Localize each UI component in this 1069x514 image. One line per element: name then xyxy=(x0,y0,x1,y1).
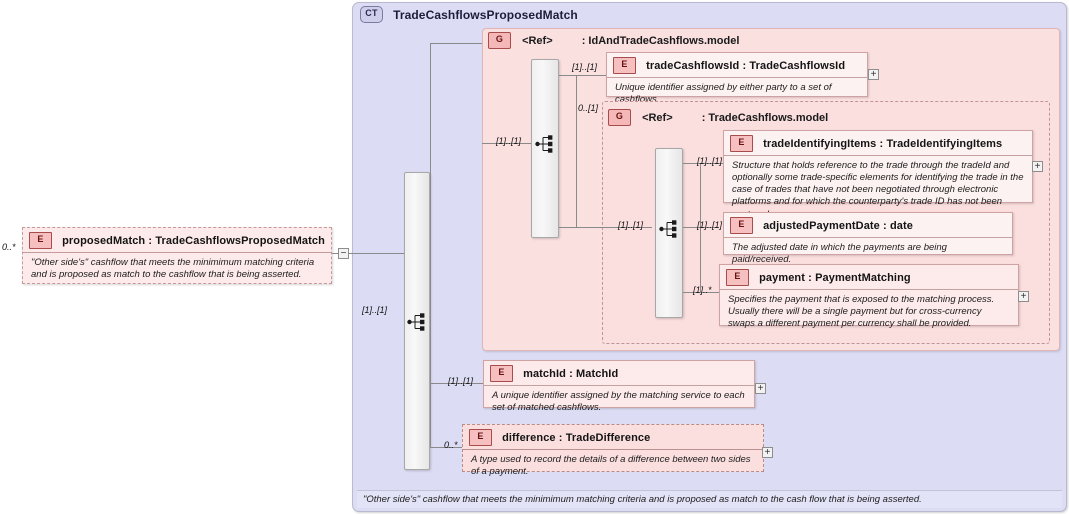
element-difference-expand[interactable]: + xyxy=(762,447,773,458)
element-payment-cardinality: [1]..* xyxy=(693,285,712,295)
group-1-header: G <Ref> : IdAndTradeCashflows.model xyxy=(488,32,888,48)
complex-type-header: CT TradeCashflowsProposedMatch xyxy=(360,6,960,24)
element-badge: E xyxy=(730,135,753,152)
connector-line xyxy=(349,253,407,254)
sequence-icon xyxy=(407,313,429,331)
element-tradeIdentifyingItems-expand[interactable]: + xyxy=(1032,161,1043,172)
element-adjustedPaymentDate-cardinality: [1]..[1] xyxy=(697,220,722,230)
element-tradeCashflowsId-cardinality: [1]..[1] xyxy=(572,62,597,72)
element-badge: E xyxy=(730,217,753,234)
element-adjustedPaymentDate[interactable]: E adjustedPaymentDate : date The adjuste… xyxy=(723,212,1013,255)
complex-type-title: TradeCashflowsProposedMatch xyxy=(393,8,578,22)
connector-line xyxy=(430,383,431,447)
element-tradeCashflowsId[interactable]: E tradeCashflowsId : TradeCashflowsId Un… xyxy=(606,52,868,97)
element-badge: E xyxy=(490,365,513,382)
group-1-sequence-bar[interactable] xyxy=(531,59,559,238)
group-2-cardinality: 0..[1] xyxy=(578,103,598,113)
group-2-header: G <Ref> : TradeCashflows.model xyxy=(608,109,1008,125)
element-tradeIdentifyingItems-label: tradeIdentifyingItems : TradeIdentifying… xyxy=(763,138,1002,150)
element-payment-label: payment : PaymentMatching xyxy=(759,272,911,284)
element-adjustedPaymentDate-title: E adjustedPaymentDate : date xyxy=(724,213,1012,238)
element-matchId-title: E matchId : MatchId xyxy=(484,361,754,386)
element-difference-doc: A type used to record the details of a d… xyxy=(463,450,763,483)
connector-line xyxy=(430,43,482,44)
element-payment-doc: Specifies the payment that is exposed to… xyxy=(720,290,1018,335)
element-matchId-label: matchId : MatchId xyxy=(523,368,618,380)
element-difference-cardinality: 0..* xyxy=(444,440,458,450)
element-tradeIdentifyingItems-title: E tradeIdentifyingItems : TradeIdentifyi… xyxy=(724,131,1032,156)
element-difference-label: difference : TradeDifference xyxy=(502,432,650,444)
element-difference-title: E difference : TradeDifference xyxy=(463,425,763,450)
element-badge: E xyxy=(613,57,636,74)
connector-line xyxy=(559,227,603,228)
group-1-ref: <Ref> xyxy=(522,35,553,47)
group-badge: G xyxy=(608,109,631,126)
sequence-icon xyxy=(535,135,557,153)
complex-type-footer-doc: "Other side's" cashflow that meets the m… xyxy=(357,490,1062,508)
element-adjustedPaymentDate-label: adjustedPaymentDate : date xyxy=(763,220,913,232)
group-1-sequence-cardinality: [1]..[1] xyxy=(496,136,521,146)
root-sequence-bar[interactable] xyxy=(404,172,430,470)
element-badge: E xyxy=(29,232,52,249)
element-matchId-cardinality: [1]..[1] xyxy=(448,376,473,386)
group-badge: G xyxy=(488,32,511,49)
connector-line xyxy=(430,43,431,383)
group-2-sequence-bar[interactable] xyxy=(655,148,683,318)
element-proposedMatch-label: proposedMatch : TradeCashflowsProposedMa… xyxy=(62,235,325,247)
root-element-cardinality: 0..* xyxy=(2,242,16,252)
element-tradeIdentifyingItems[interactable]: E tradeIdentifyingItems : TradeIdentifyi… xyxy=(723,130,1033,203)
element-payment-expand[interactable]: + xyxy=(1018,291,1029,302)
element-matchId-doc: A unique identifier assigned by the matc… xyxy=(484,386,754,419)
element-proposedMatch-doc: "Other side's" cashflow that meets the m… xyxy=(23,253,331,286)
group-2-ref: <Ref> xyxy=(642,112,673,124)
group-2-sequence-cardinality: [1]..[1] xyxy=(618,220,643,230)
element-tradeIdentifyingItems-cardinality: [1]..[1] xyxy=(697,156,722,166)
element-matchId[interactable]: E matchId : MatchId A unique identifier … xyxy=(483,360,755,408)
element-tradeCashflowsId-expand[interactable]: + xyxy=(868,69,879,80)
group-1-name: : IdAndTradeCashflows.model xyxy=(582,35,740,47)
element-badge: E xyxy=(726,269,749,286)
element-badge: E xyxy=(469,429,492,446)
connector-line xyxy=(559,75,606,76)
element-payment[interactable]: E payment : PaymentMatching Specifies th… xyxy=(719,264,1019,326)
element-payment-title: E payment : PaymentMatching xyxy=(720,265,1018,290)
element-proposedMatch[interactable]: E proposedMatch : TradeCashflowsProposed… xyxy=(22,227,332,284)
element-matchId-expand[interactable]: + xyxy=(755,383,766,394)
root-sequence-cardinality: [1]..[1] xyxy=(362,305,387,315)
element-tradeCashflowsId-title: E tradeCashflowsId : TradeCashflowsId xyxy=(607,53,867,78)
sequence-icon xyxy=(659,220,681,238)
complex-type-badge: CT xyxy=(360,6,383,23)
element-difference[interactable]: E difference : TradeDifference A type us… xyxy=(462,424,764,472)
element-tradeCashflowsId-label: tradeCashflowsId : TradeCashflowsId xyxy=(646,60,845,72)
root-collapse-toggle[interactable]: − xyxy=(338,248,349,259)
element-proposedMatch-title: E proposedMatch : TradeCashflowsProposed… xyxy=(23,228,331,253)
connector-line xyxy=(576,75,577,227)
group-2-name: : TradeCashflows.model xyxy=(702,112,829,124)
